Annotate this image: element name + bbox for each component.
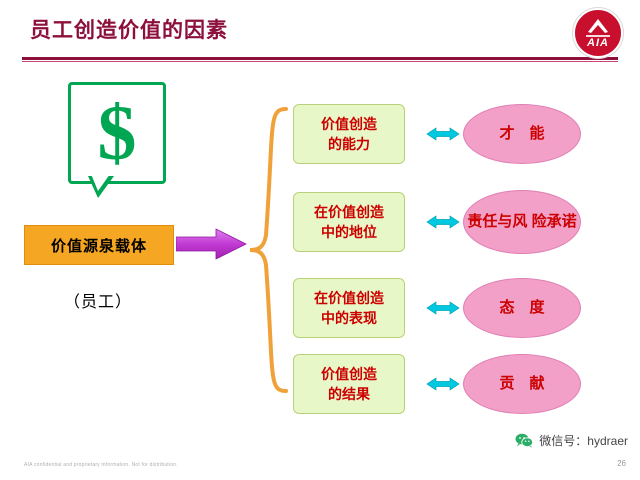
logo-text: AIA <box>575 37 621 49</box>
source-caption: （员工） <box>24 288 172 312</box>
factor-box-1: 价值创造 的能力 <box>293 104 405 164</box>
header-divider <box>22 57 618 60</box>
factor-box-2-line1: 在价值创造 <box>314 202 384 222</box>
aia-logo: AIA <box>573 8 623 58</box>
double-arrow-icon-1 <box>426 124 460 144</box>
header-divider-secondary <box>22 61 618 62</box>
factor-box-3-line1: 在价值创造 <box>314 288 384 308</box>
factor-box-3-line2: 中的表现 <box>314 308 384 328</box>
dollar-symbol: $ <box>71 85 163 181</box>
speech-bubble: $ <box>68 82 166 184</box>
factor-box-2: 在价值创造 中的地位 <box>293 192 405 252</box>
confidentiality-note: AIA confidential and proprietary informa… <box>24 462 178 468</box>
purple-arrow-icon <box>176 228 248 260</box>
result-pill-2-line2: 险承诺 <box>532 213 577 230</box>
factor-box-1-line1: 价值创造 <box>321 114 377 134</box>
result-pill-2: 责任与风 险承诺 <box>463 190 581 254</box>
wechat-watermark: 微信号：hydraer <box>515 432 628 449</box>
factor-box-2-line2: 中的地位 <box>314 222 384 242</box>
result-pill-4-text: 贡 献 <box>499 374 544 394</box>
double-arrow-icon-3 <box>426 298 460 318</box>
result-pill-1-text: 才 能 <box>499 124 544 144</box>
result-pill-3: 态 度 <box>463 278 581 338</box>
page-title: 员工创造价值的因素 <box>30 14 228 44</box>
slide: 员工创造价值的因素 AIA $ 价值源泉载体 （员工） <box>0 0 640 480</box>
factor-box-4-line2: 的结果 <box>321 384 377 404</box>
result-pill-3-text: 态 度 <box>499 298 544 318</box>
result-pill-4: 贡 献 <box>463 354 581 414</box>
wechat-label: 微信号：hydraer <box>539 432 628 449</box>
factor-box-1-line2: 的能力 <box>321 134 377 154</box>
result-pill-1: 才 能 <box>463 104 581 164</box>
orange-brace-icon <box>246 105 290 395</box>
logo-mark-icon <box>575 10 621 56</box>
factor-box-3: 在价值创造 中的表现 <box>293 278 405 338</box>
double-arrow-icon-4 <box>426 374 460 394</box>
factor-box-4-line1: 价值创造 <box>321 364 377 384</box>
double-arrow-icon-2 <box>426 212 460 232</box>
speech-bubble-tail-inner <box>91 174 110 191</box>
wechat-icon <box>515 433 533 448</box>
result-pill-2-line1: 责任与风 <box>467 213 527 230</box>
header-band: 员工创造价值的因素 <box>0 0 640 58</box>
source-box: 价值源泉载体 <box>24 225 174 265</box>
page-number: 26 <box>617 459 626 468</box>
factor-box-4: 价值创造 的结果 <box>293 354 405 414</box>
